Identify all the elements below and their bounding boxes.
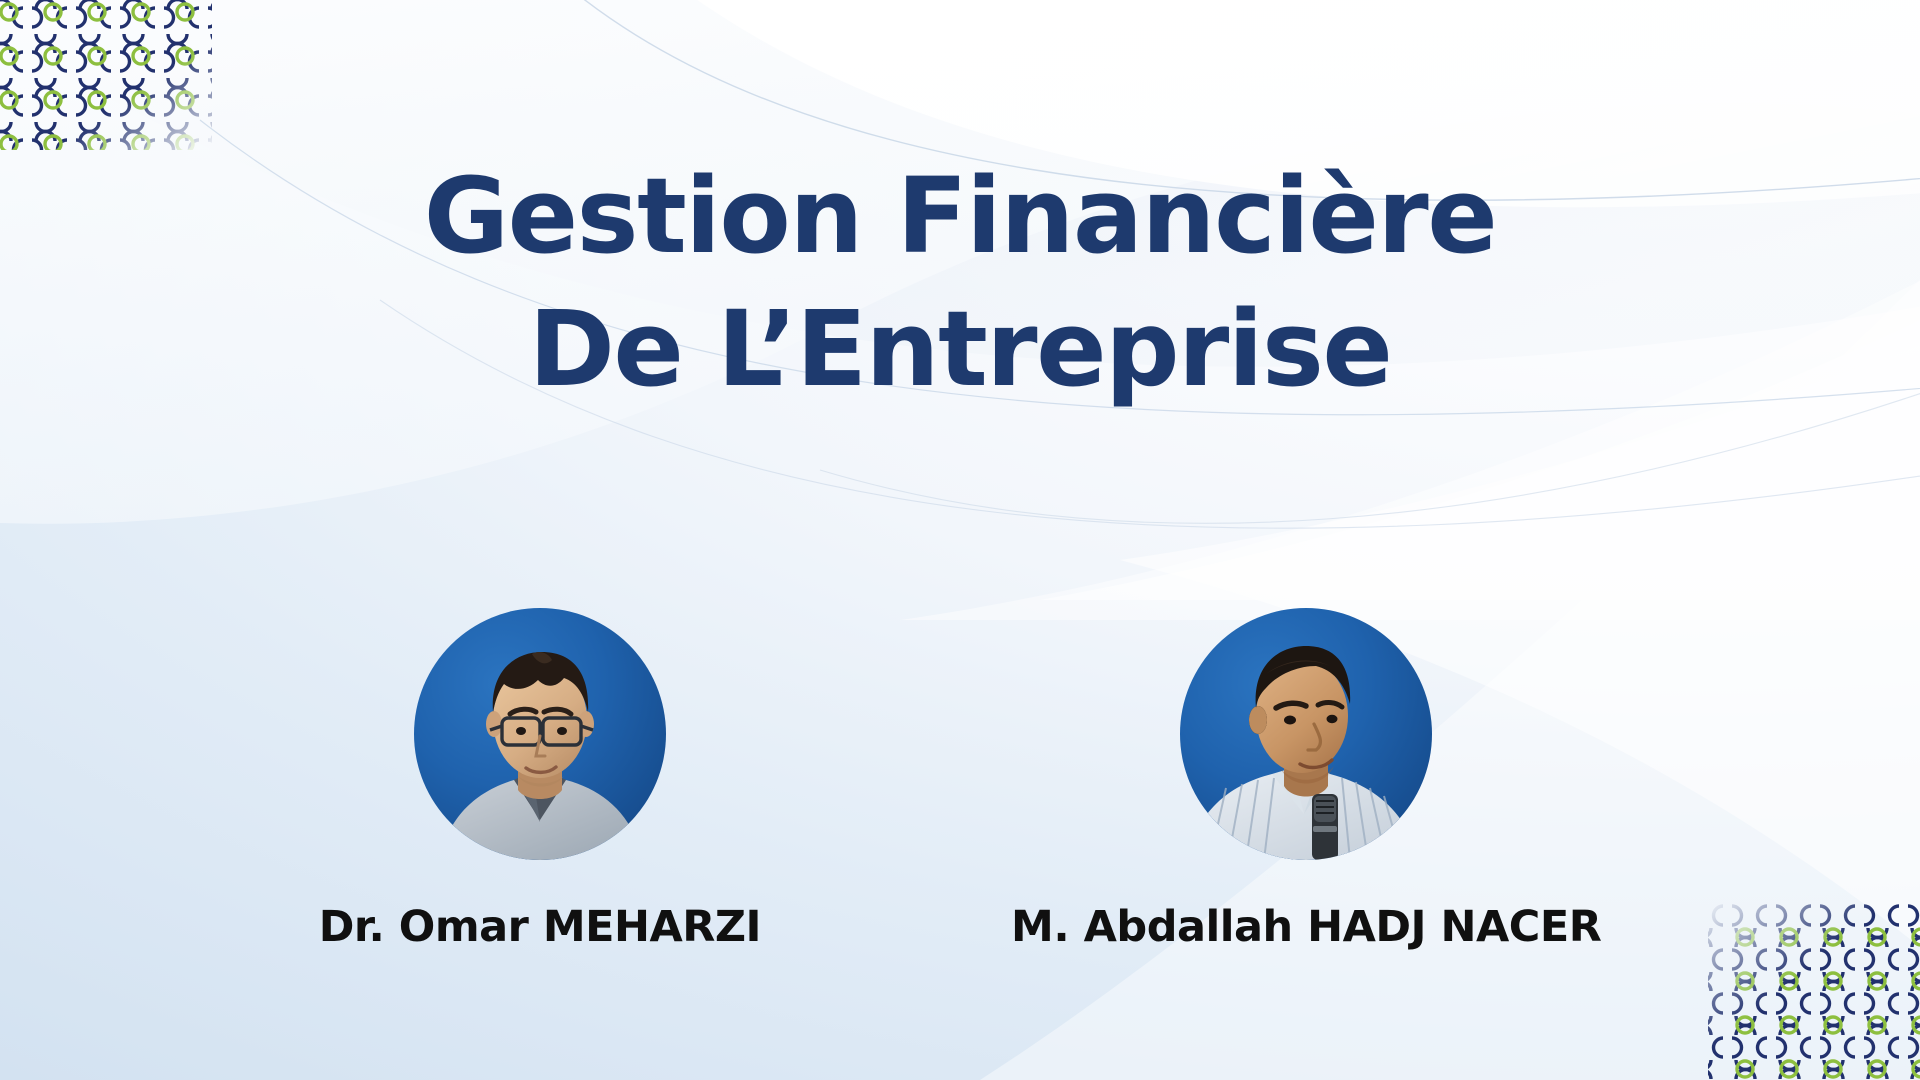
speaker-card-1: Dr. Omar MEHARZI (319, 608, 761, 952)
speaker-name-2: M. Abdallah HADJ NACER (1011, 902, 1601, 952)
avatar-portrait-omar (414, 608, 666, 860)
decorative-dot-pattern-top-left (0, 0, 212, 150)
speaker-card-2: M. Abdallah HADJ NACER (1011, 608, 1601, 952)
title-line-2: De L’Entreprise (0, 283, 1920, 416)
avatar-abdallah-hadj-nacer (1180, 608, 1432, 860)
avatar-omar-meharzi (414, 608, 666, 860)
avatar-portrait-abdallah (1180, 608, 1432, 860)
speakers-row: Dr. Omar MEHARZI (0, 608, 1920, 952)
microphone-prop (1312, 794, 1338, 860)
speaker-name-1: Dr. Omar MEHARZI (319, 902, 761, 952)
slide-title: Gestion Financière De L’Entreprise (0, 150, 1920, 416)
title-line-1: Gestion Financière (0, 150, 1920, 283)
presentation-slide: Gestion Financière De L’Entreprise (0, 0, 1920, 1080)
